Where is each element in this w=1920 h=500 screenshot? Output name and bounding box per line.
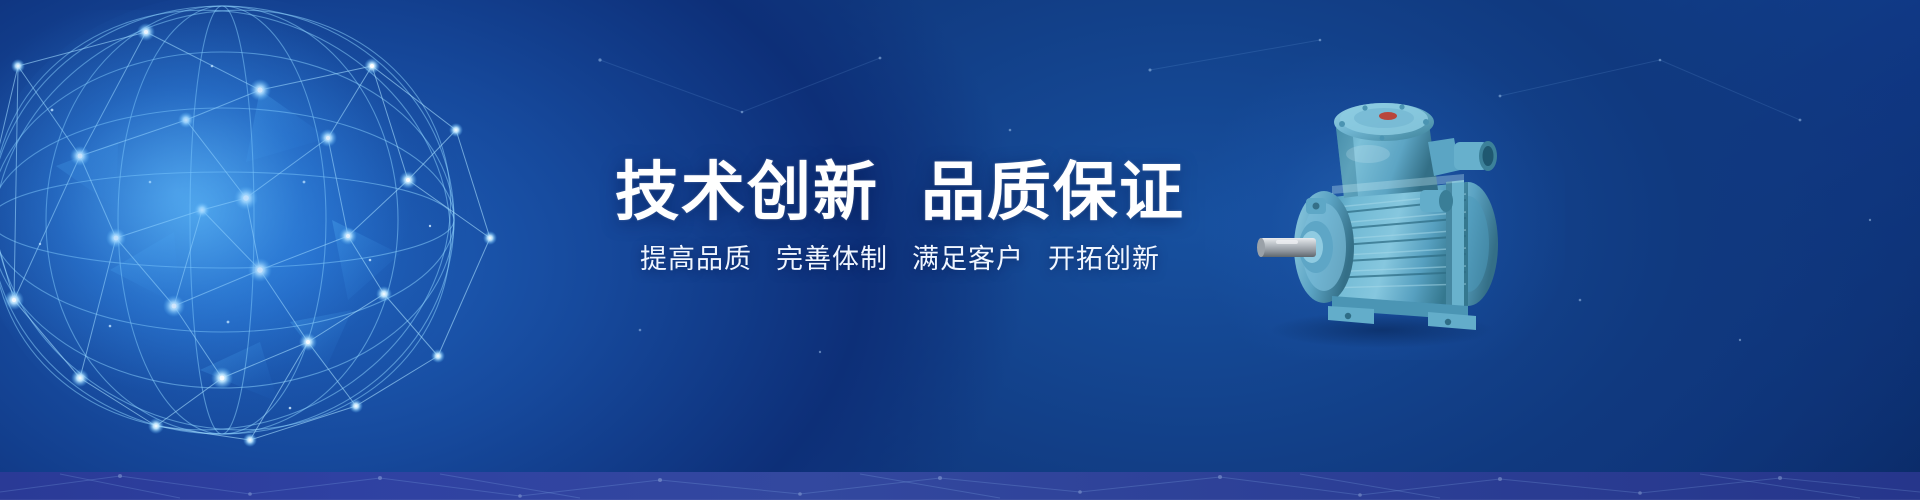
- banner-subtitle: 提高品质完善体制满足客户开拓创新: [570, 243, 1230, 275]
- banner-headline: 技术创新品质保证: [570, 160, 1230, 225]
- headline-part-2: 品质保证: [921, 156, 1185, 228]
- electric-motor-product-image: [1232, 58, 1532, 348]
- subtitle-item-2: 完善体制: [776, 244, 888, 274]
- subtitle-item-4: 开拓创新: [1048, 244, 1160, 274]
- promo-banner: 技术创新品质保证 提高品质完善体制满足客户开拓创新: [0, 0, 1920, 500]
- bottom-band-network-texture: [0, 472, 1920, 500]
- subtitle-item-1: 提高品质: [640, 244, 752, 274]
- subtitle-item-3: 满足客户: [912, 244, 1024, 274]
- banner-copy: 技术创新品质保证 提高品质完善体制满足客户开拓创新: [570, 160, 1230, 276]
- headline-part-1: 技术创新: [615, 156, 879, 228]
- bottom-accent-band: [0, 472, 1920, 500]
- network-globe-graphic: [0, 0, 580, 490]
